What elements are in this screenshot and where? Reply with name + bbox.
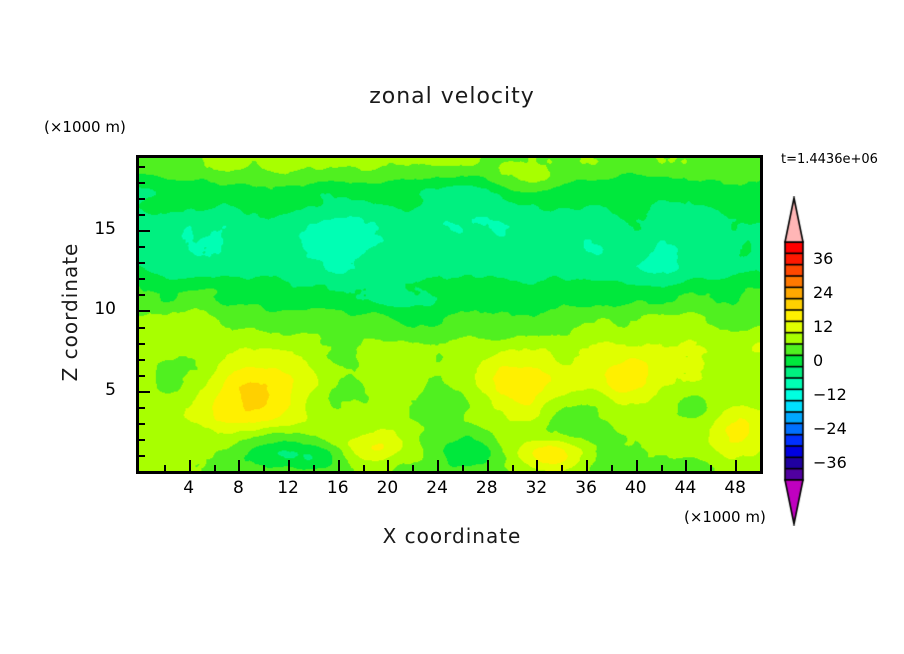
x-tick-label: 48	[705, 478, 765, 498]
x-tick-mark	[611, 465, 613, 471]
x-tick-mark	[238, 460, 240, 471]
page-title: zonal velocity	[0, 84, 904, 109]
x-tick-mark	[636, 460, 638, 471]
y-tick-mark	[139, 327, 145, 329]
colorbar-tick-label: −24	[813, 419, 847, 438]
x-tick-mark	[512, 465, 514, 471]
y-axis-title: Z coordinate	[58, 202, 82, 422]
y-tick-mark	[139, 278, 145, 280]
y-tick-mark	[139, 166, 145, 168]
y-tick-mark	[139, 262, 145, 264]
x-tick-mark	[462, 465, 464, 471]
y-tick-mark	[139, 423, 145, 425]
y-tick-mark	[139, 375, 145, 377]
y-tick-mark	[139, 391, 150, 393]
y-tick-mark	[139, 310, 150, 312]
x-tick-mark	[487, 460, 489, 471]
x-tick-mark	[536, 460, 538, 471]
x-axis-title: X coordinate	[0, 524, 904, 548]
x-tick-mark	[338, 460, 340, 471]
x-tick-mark	[661, 465, 663, 471]
x-tick-mark	[437, 460, 439, 471]
contour-plot-area[interactable]	[136, 155, 763, 474]
colorbar[interactable]	[779, 196, 809, 526]
x-tick-mark	[263, 465, 265, 471]
x-tick-mark	[735, 460, 737, 471]
x-tick-mark	[164, 465, 166, 471]
x-tick-mark	[387, 460, 389, 471]
y-tick-label: 10	[76, 299, 116, 319]
x-tick-mark	[710, 465, 712, 471]
x-tick-mark	[586, 460, 588, 471]
colorbar-tick-label: 12	[813, 317, 833, 336]
x-tick-mark	[412, 465, 414, 471]
y-tick-mark	[139, 294, 145, 296]
x-tick-mark	[685, 460, 687, 471]
y-tick-label: 5	[76, 380, 116, 400]
y-tick-mark	[139, 455, 145, 457]
y-tick-mark	[139, 343, 145, 345]
x-tick-mark	[363, 465, 365, 471]
y-tick-mark	[139, 230, 150, 232]
x-tick-mark	[288, 460, 290, 471]
colorbar-tick-label: 0	[813, 351, 823, 370]
y-tick-label: 15	[76, 219, 116, 239]
colorbar-tick-label: 24	[813, 283, 833, 302]
colorbar-tick-label: 36	[813, 249, 833, 268]
y-tick-mark	[139, 246, 145, 248]
colorbar-tick-label: −36	[813, 453, 847, 472]
x-tick-mark	[561, 465, 563, 471]
x-tick-mark	[189, 460, 191, 471]
y-tick-mark	[139, 359, 145, 361]
colorbar-gradient	[779, 196, 809, 526]
x-tick-mark	[214, 465, 216, 471]
y-tick-mark	[139, 198, 145, 200]
time-annotation: t=1.4436e+06	[781, 152, 878, 167]
y-tick-mark	[139, 214, 145, 216]
y-tick-mark	[139, 182, 145, 184]
colorbar-tick-label: −12	[813, 385, 847, 404]
y-tick-mark	[139, 407, 145, 409]
y-tick-mark	[139, 439, 145, 441]
y-axis-unit-label: (×1000 m)	[44, 118, 126, 136]
velocity-field-heatmap	[139, 158, 760, 471]
x-tick-mark	[313, 465, 315, 471]
